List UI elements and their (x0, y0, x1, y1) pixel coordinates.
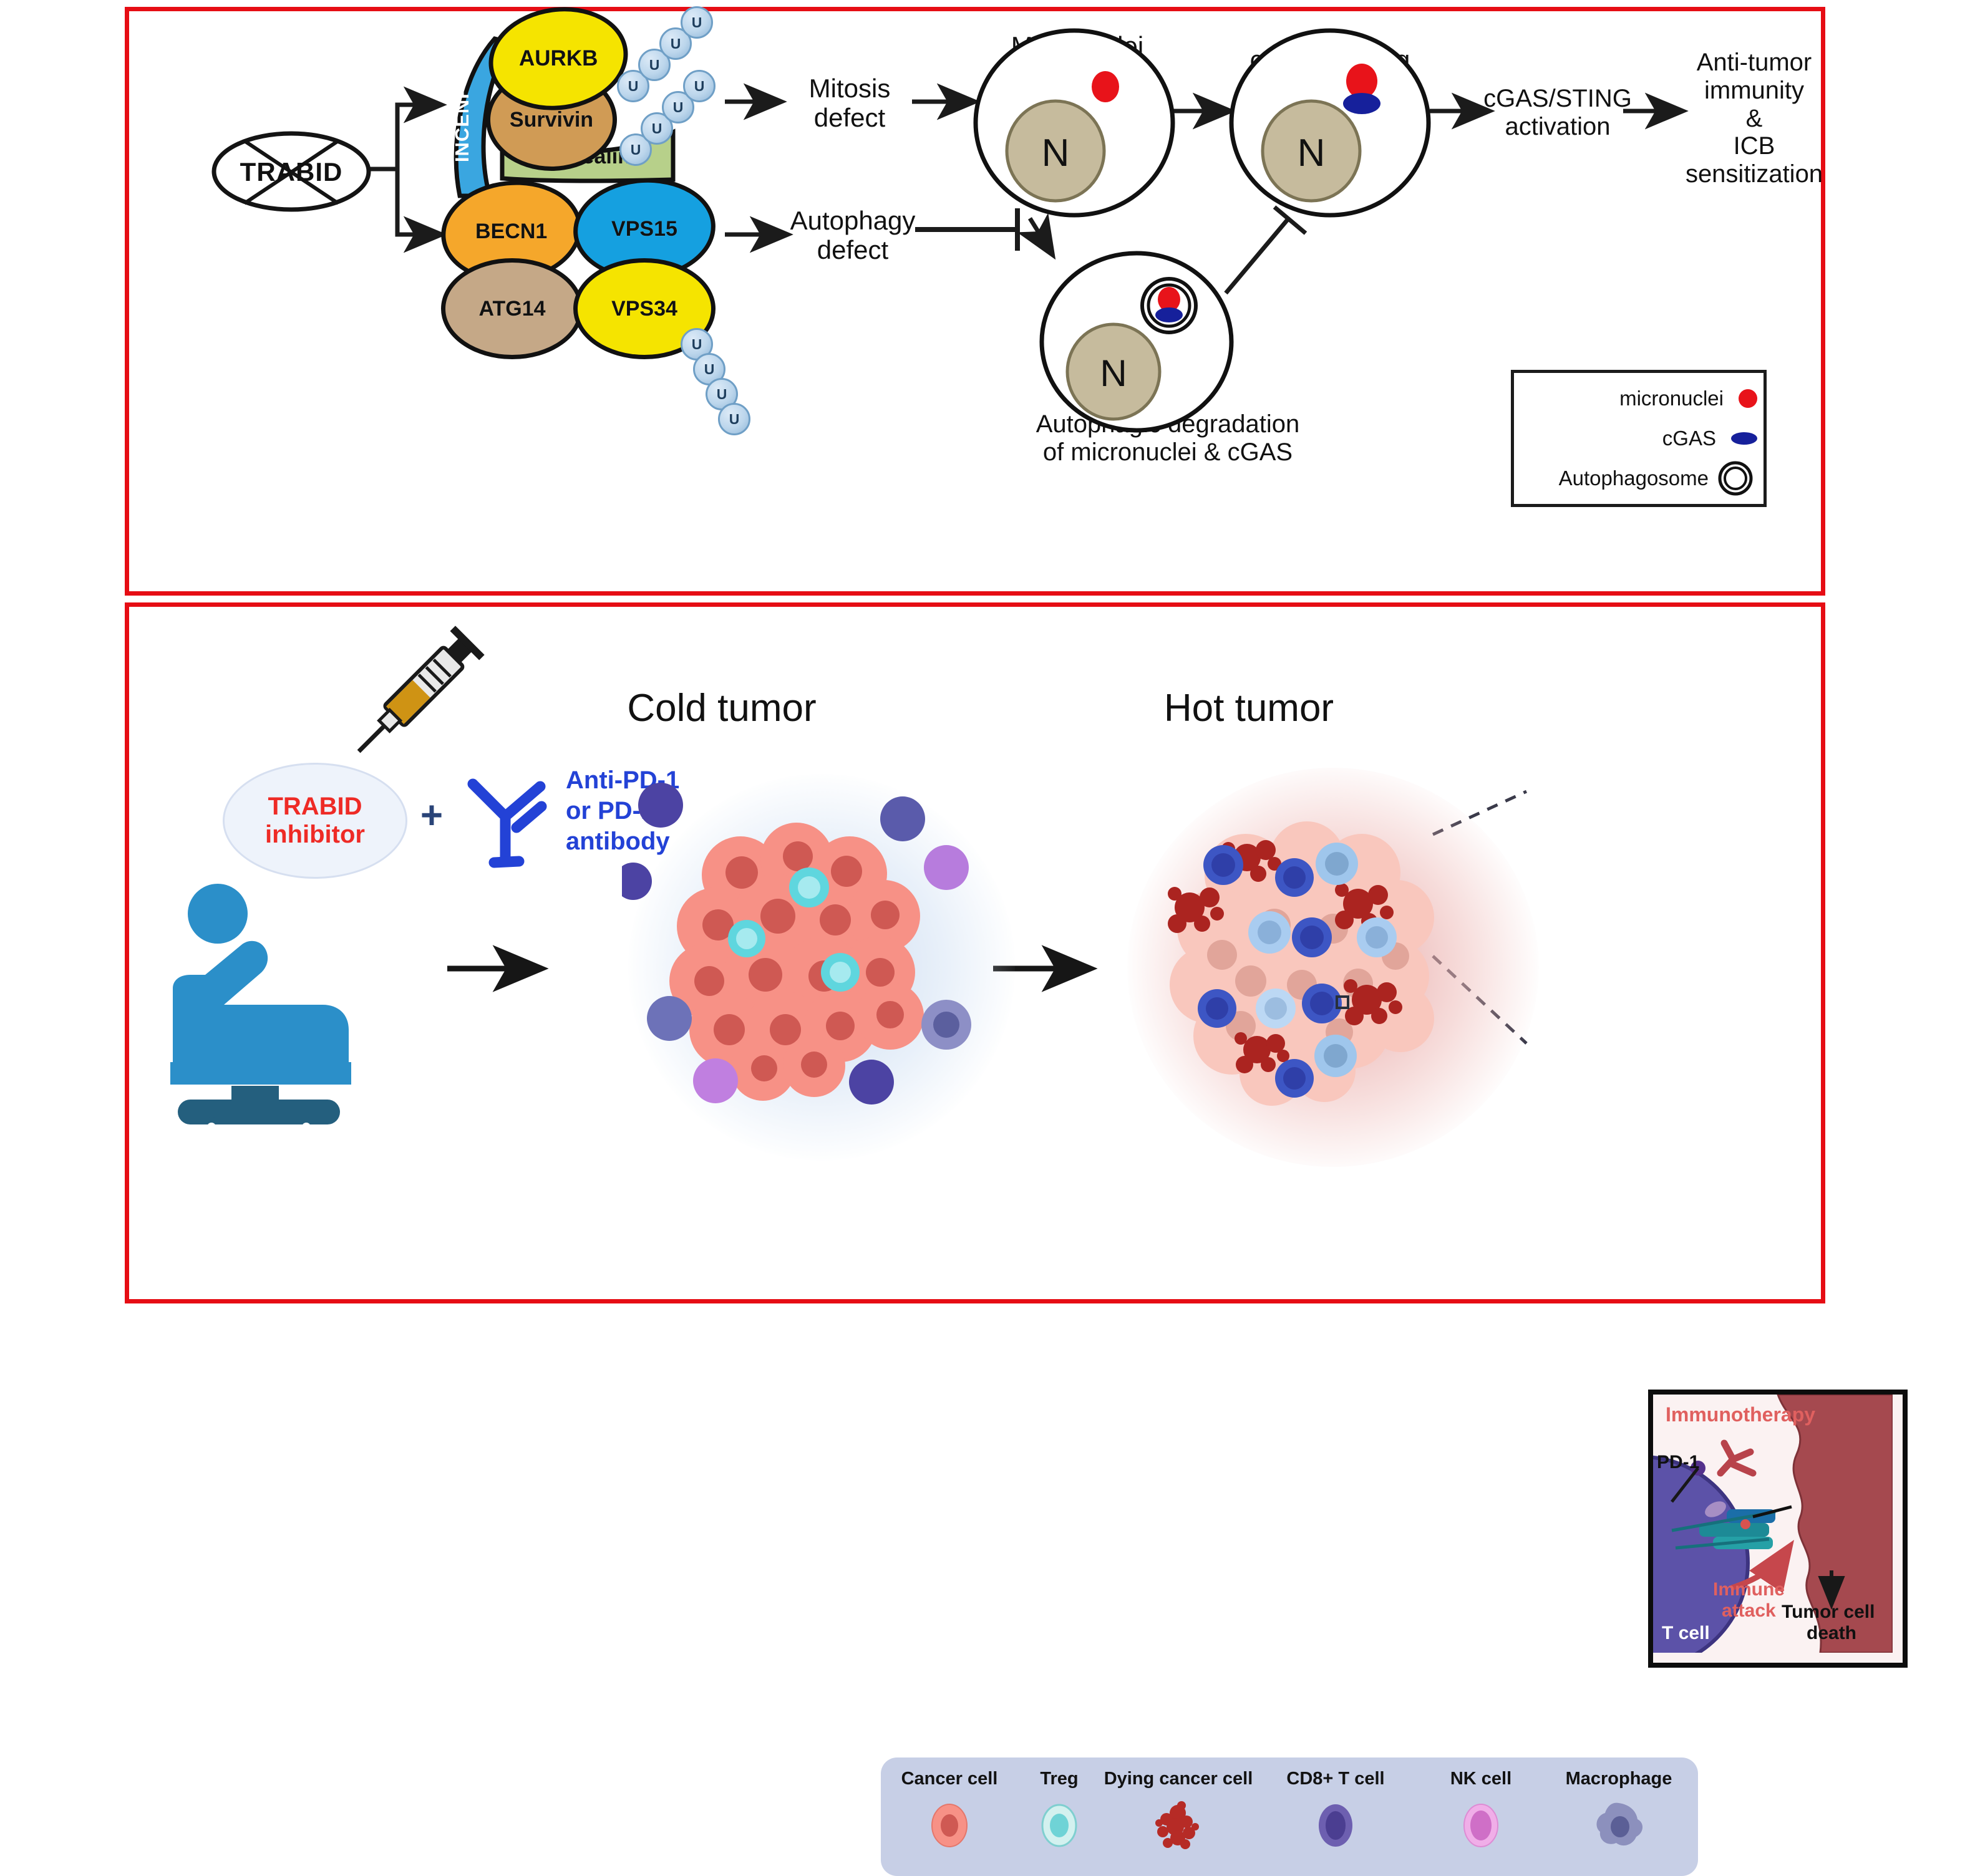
treg-cell-icon (1036, 1798, 1083, 1850)
legend-row-cgas: cGAS (1514, 427, 1757, 450)
legend-label-macrophage: Macrophage (1547, 1769, 1691, 1789)
ubiquitin-icon: U (681, 6, 713, 39)
cgas-sting-activation-label: cGAS/STING activation (1470, 85, 1645, 141)
inset-tcell-label: T cell (1662, 1623, 1710, 1644)
macrophage-icon (1593, 1798, 1645, 1850)
figure-canvas: TRABID INCENP Borealin Survivin AURKB U … (0, 0, 1965, 1310)
svg-text:N: N (1100, 352, 1127, 394)
cell-micronuclei: N (971, 26, 1177, 220)
legend-item-cancer-cell: Cancer cell (887, 1769, 1012, 1854)
hot-tumor-cluster (1152, 794, 1502, 1131)
legend-item-macrophage: Macrophage (1547, 1769, 1691, 1854)
nk-cell-icon (1457, 1798, 1505, 1850)
hot-tumor-title: Hot tumor (1093, 687, 1405, 730)
legend-row-autophagosome: Autophagosome (1514, 460, 1757, 496)
incenp-label: INCENP (445, 71, 480, 177)
trabid-label: TRABID (210, 157, 372, 186)
mitosis-defect-label: Mitosis defect (778, 74, 921, 132)
legend-label-cgas: cGAS (1662, 427, 1716, 450)
red-dot-icon (1739, 389, 1757, 408)
dying-cancer-cell-icon (1144, 1798, 1213, 1850)
legend-item-dying-cancer-cell: Dying cancer cell (1100, 1769, 1256, 1854)
cell-type-legend: Cancer cell Treg Dying cancer cell (881, 1758, 1698, 1876)
svg-text:N: N (1042, 132, 1070, 175)
legend-label-micronuclei: micronuclei (1619, 387, 1724, 410)
inset-tumor-death-line1: Tumor cell (1782, 1602, 1875, 1622)
cancer-cell-icon (926, 1798, 973, 1850)
top-panel-legend: micronuclei cGAS Autophagosome (1511, 370, 1767, 507)
ubiquitin-icon: U (683, 70, 716, 102)
legend-item-nk-cell: NK cell (1419, 1769, 1543, 1854)
immunotherapy-inset: Immunotherapy PD-1 Immune attack Tumor c… (1648, 1390, 1908, 1668)
double-ring-icon (1717, 460, 1754, 496)
inset-tumor-death-line2: death (1807, 1623, 1856, 1643)
legend-item-cd8-t-cell: CD8+ T cell (1264, 1769, 1407, 1854)
cold-tumor-title: Cold tumor (566, 687, 878, 730)
atg14-blob: ATG14 (441, 258, 583, 359)
ubiquitin-icon: U (718, 403, 750, 435)
blue-ellipse-icon (1731, 432, 1757, 445)
cold-tumor-peripheral-cells (622, 763, 1034, 1168)
inset-title: Immunotherapy (1666, 1403, 1815, 1426)
legend-label-autophagosome: Autophagosome (1559, 467, 1709, 490)
svg-text:N: N (1298, 132, 1326, 175)
inset-pd1-label: PD-1 (1657, 1452, 1699, 1473)
legend-label-cd8-t-cell: CD8+ T cell (1264, 1769, 1407, 1789)
mechanism-panel: TRABID INCENP Borealin Survivin AURKB U … (125, 7, 1825, 596)
inset-immune-attack-line1: Immune (1713, 1579, 1785, 1600)
legend-label-dying-cancer-cell: Dying cancer cell (1100, 1769, 1256, 1789)
outcome-label: Anti-tumor immunity & ICB sensitization (1664, 49, 1845, 188)
autophagy-defect-label: Autophagy defect (778, 206, 928, 264)
cd8-t-cell-icon (1312, 1798, 1359, 1850)
legend-label-nk-cell: NK cell (1419, 1769, 1543, 1789)
legend-row-micronuclei: micronuclei (1514, 387, 1757, 410)
therapy-panel: TRABID inhibitor + Anti-PD-1 or PD-L1 an… (125, 602, 1825, 1303)
legend-label-cancer-cell: Cancer cell (887, 1769, 1012, 1789)
inset-immune-attack-line2: attack (1722, 1600, 1776, 1621)
cell-autophagic-degradation: N (1034, 249, 1240, 437)
cell-cgas-binding: N (1227, 26, 1433, 220)
